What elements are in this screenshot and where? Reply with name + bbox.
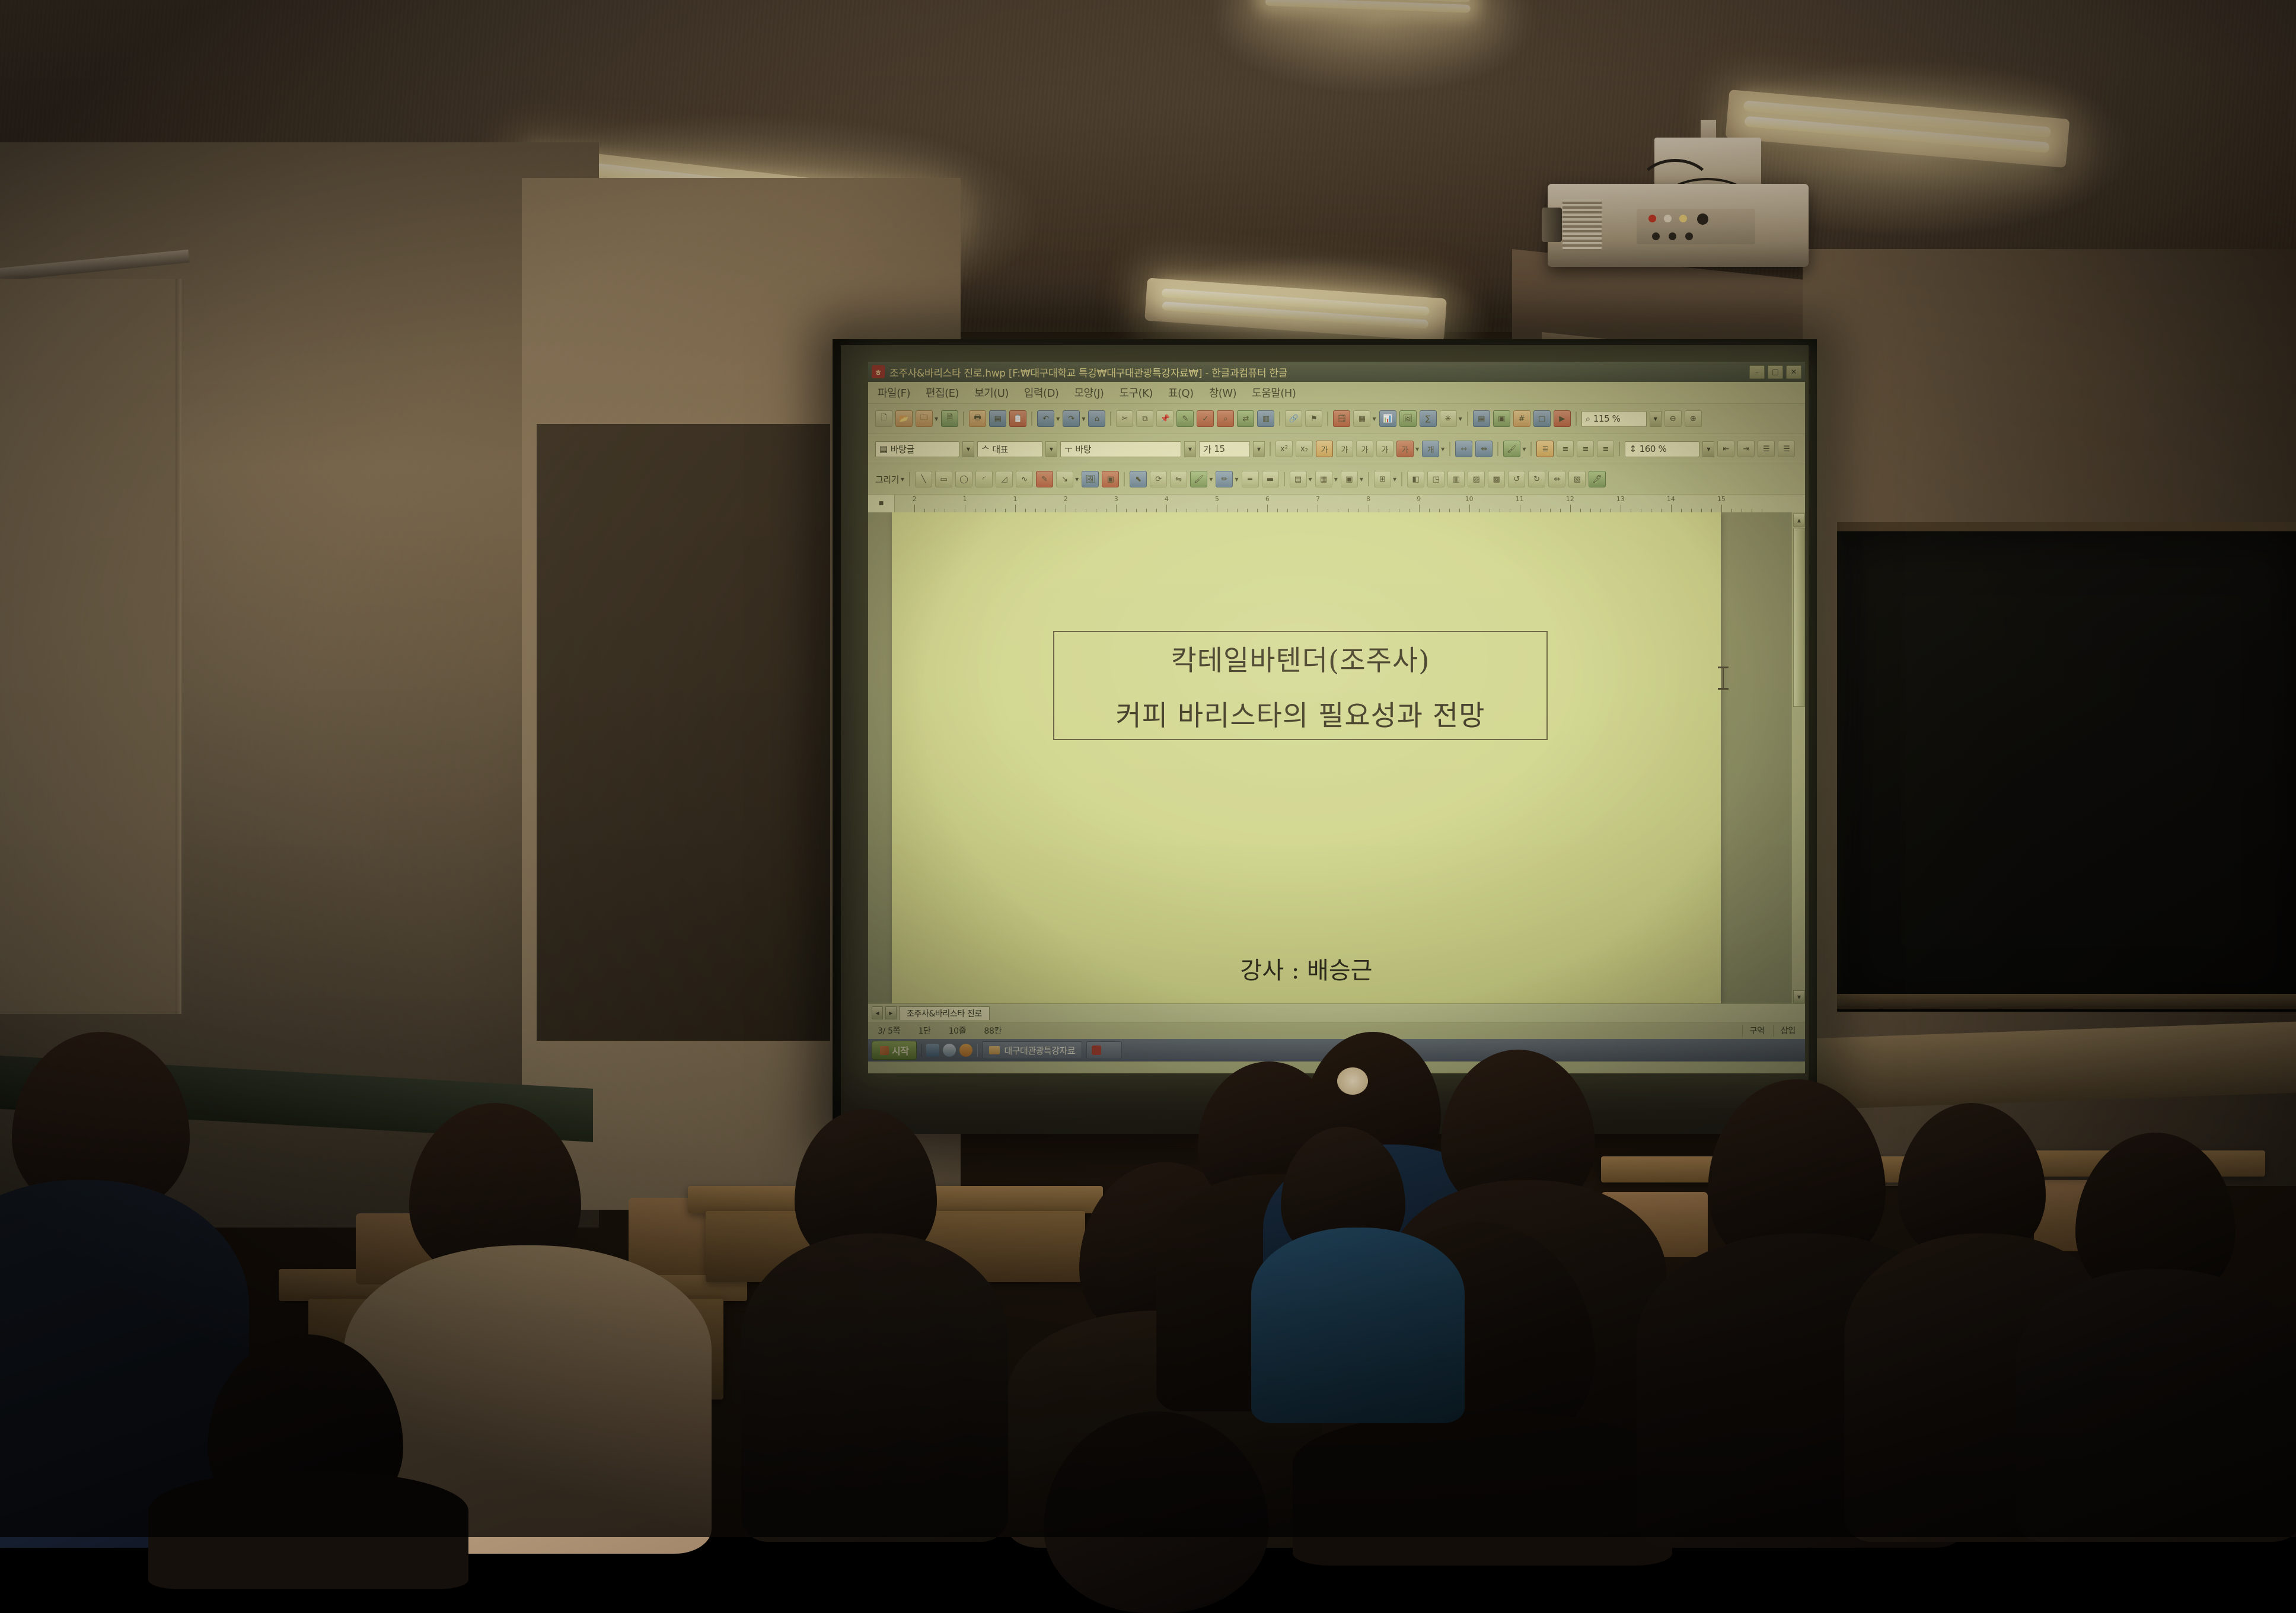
internet-explorer-icon[interactable] <box>943 1044 956 1057</box>
highlight-icon[interactable]: 🖌 <box>1503 441 1520 457</box>
tab-next-button[interactable]: ▶ <box>885 1006 897 1019</box>
chevron-down-icon[interactable]: ▼ <box>1082 416 1085 422</box>
toolbar-separator <box>1327 412 1328 426</box>
hyperlink-icon[interactable]: 🔗 <box>1285 410 1302 427</box>
page-setup-icon[interactable]: ▤ <box>989 410 1006 427</box>
toolbar-separator <box>1449 442 1450 456</box>
ruler-major-tick <box>1621 505 1621 512</box>
chevron-down-icon[interactable]: ▼ <box>1459 416 1462 422</box>
hwp-titlebar[interactable]: ㅎ 조주사&바리스타 진로.hwp [F:₩대구대학교 특강₩대구대관광특강자료… <box>868 362 1805 382</box>
ole-tool[interactable]: ▣ <box>1102 471 1119 487</box>
menu-window[interactable]: 창(W) <box>1209 385 1236 400</box>
line-spacing-value: 160 % <box>1640 444 1667 454</box>
close-button[interactable]: ✕ <box>1786 365 1801 379</box>
menu-table[interactable]: 표(Q) <box>1168 385 1194 400</box>
print-icon[interactable]: 🖶 <box>969 410 986 427</box>
menu-edit[interactable]: 편집(E) <box>926 385 959 400</box>
ruler-tick-label: 8 <box>1366 495 1370 503</box>
ruler-major-tick <box>1520 505 1520 512</box>
undo-icon[interactable]: ↶ <box>1037 410 1054 427</box>
chevron-down-icon[interactable]: ▼ <box>901 477 904 482</box>
folder-icon <box>989 1046 1000 1054</box>
strikethrough-icon[interactable]: 가 <box>1376 441 1393 457</box>
scrollbar-thumb[interactable] <box>1793 528 1805 707</box>
menu-tools[interactable]: 도구(K) <box>1119 385 1152 400</box>
rotate-left-tool[interactable]: ↺ <box>1508 471 1525 487</box>
ruler-tick-label: 2 <box>913 495 917 503</box>
footnote-icon[interactable]: ▣ <box>1493 410 1510 427</box>
align-left-icon[interactable]: ≡ <box>1557 441 1574 457</box>
char-width-icon[interactable]: ⇹ <box>1475 441 1493 457</box>
torso <box>1251 1228 1465 1423</box>
ruler-tick-label: 15 <box>1717 495 1726 503</box>
window-controls[interactable]: – □ ✕ <box>1749 365 1801 379</box>
hwp-app-icon <box>1092 1045 1101 1055</box>
torso <box>148 1471 468 1589</box>
menu-file[interactable]: 파일(F) <box>878 385 910 400</box>
toolbar-separator <box>963 412 964 426</box>
document-page[interactable]: 칵테일바텐더(조주사) 커피 바리스타의 필요성과 전망 강사 : 배승근 <box>892 512 1721 1003</box>
font-size-icon: 가 <box>1203 443 1211 455</box>
torso <box>741 1233 1008 1542</box>
flip-tool[interactable]: ⇋ <box>1170 471 1187 487</box>
menu-format[interactable]: 모양(J) <box>1074 385 1104 400</box>
open-file-icon[interactable]: 📂 <box>895 410 913 427</box>
toolbar-separator <box>1031 412 1032 426</box>
toolbar-separator <box>909 472 910 486</box>
snap-tool[interactable]: ▨ <box>1468 471 1485 487</box>
taskbar-window-label: 대구대관광특강자료 <box>1004 1044 1075 1057</box>
projector-port <box>1679 215 1687 222</box>
zoom-dropdown-arrow[interactable]: ▼ <box>1650 411 1662 427</box>
chevron-down-icon[interactable]: ▼ <box>1075 477 1079 482</box>
toolbar-separator <box>1530 442 1532 456</box>
scroll-up-button[interactable]: ▲ <box>1793 514 1805 527</box>
projector-port <box>1685 232 1693 240</box>
grid-tool[interactable]: ▩ <box>1488 471 1505 487</box>
font-name-dropdown-arrow[interactable]: ▼ <box>1184 441 1196 457</box>
ruler-scale: 21123456789101112131415 <box>894 495 1805 512</box>
find-icon[interactable]: ⌕ <box>1217 410 1234 427</box>
rectangle-tool[interactable]: ▭ <box>935 471 952 487</box>
equation-icon[interactable]: ∑ <box>1420 410 1437 427</box>
draw-toolbar-label: 그리기 <box>875 473 899 486</box>
document-tab[interactable]: 조주사&바리스타 진로 <box>899 1006 990 1020</box>
minimize-button[interactable]: – <box>1749 365 1765 379</box>
ruler-tick-label: 12 <box>1566 495 1574 503</box>
block-icon[interactable]: ▥ <box>1257 410 1274 427</box>
ruler-tick-label: 1 <box>963 495 967 503</box>
chevron-down-icon[interactable]: ▼ <box>1056 416 1060 422</box>
font-size-field[interactable]: 가 15 <box>1199 441 1250 457</box>
start-button[interactable]: 시작 <box>872 1041 917 1060</box>
bullet-list-icon[interactable]: ☰ <box>1758 441 1775 457</box>
indent-increase-icon[interactable]: ⇥ <box>1737 441 1755 457</box>
pencil-tool[interactable]: ✎ <box>1036 471 1053 487</box>
zoom-out-icon[interactable]: ⊖ <box>1664 410 1682 427</box>
horizontal-ruler[interactable]: ■ 21123456789101112131415 <box>868 494 1805 512</box>
projector-vent <box>1562 199 1602 250</box>
char-style-icon: ᄉ <box>981 443 989 455</box>
status-bar: 3/ 5쪽 1단 10줄 88칸 구역 삽입 <box>868 1022 1805 1039</box>
order-tool[interactable]: ▣ <box>1341 471 1358 487</box>
maximize-button[interactable]: □ <box>1768 365 1783 379</box>
line-spacing-icon: ↕ <box>1629 444 1636 454</box>
ruler-tick-label: 2 <box>1064 495 1068 503</box>
toolbar-separator <box>1368 472 1369 486</box>
picture-icon[interactable]: 🖼 <box>1399 410 1417 427</box>
lecture-room: ㅎ 조주사&바리스타 진로.hwp [F:₩대구대학교 특강₩대구대관광특강자료… <box>0 0 2296 1537</box>
print-preview-icon[interactable]: 🗎 <box>941 410 958 427</box>
chevron-down-icon[interactable]: ▼ <box>1334 477 1338 482</box>
ruler-major-tick <box>914 505 915 512</box>
replace-icon[interactable]: ⇄ <box>1237 410 1254 427</box>
blind-edge <box>176 279 181 1014</box>
text-color-icon[interactable]: 개 <box>1422 441 1439 457</box>
special-char-icon[interactable]: ✳ <box>1440 410 1457 427</box>
outline-icon[interactable]: 가 <box>1396 441 1414 457</box>
ruler-tick-label: 13 <box>1616 495 1625 503</box>
underline-icon[interactable]: 가 <box>1356 441 1373 457</box>
pen-icon[interactable]: ✎ <box>1176 410 1194 427</box>
toolbar-separator <box>1110 412 1111 426</box>
toolbar-separator <box>1467 412 1468 426</box>
projector-port <box>1648 215 1656 222</box>
align-justify-icon[interactable]: ≣ <box>1536 441 1554 457</box>
projector-port <box>1669 232 1676 240</box>
chevron-down-icon[interactable]: ▼ <box>1441 447 1444 452</box>
navigate-icon[interactable]: ⌂ <box>1088 410 1105 427</box>
chevron-down-icon[interactable]: ▼ <box>1415 447 1419 452</box>
arrow-tool[interactable]: ↘ <box>1056 471 1073 487</box>
ruler-major-tick <box>1721 505 1722 512</box>
memo-icon[interactable]: 🗒 <box>1333 410 1350 427</box>
zoom-in-icon[interactable]: ⊕ <box>1685 410 1702 427</box>
ruler-major-tick <box>1671 505 1672 512</box>
lecturer-line: 강사 : 배승근 <box>892 951 1721 986</box>
ruler-tick-label: 11 <box>1516 495 1524 503</box>
toolbar-separator <box>1497 442 1498 456</box>
line-color-tool[interactable]: ✏ <box>1216 471 1233 487</box>
mirror-tool[interactable]: ⇹ <box>1548 471 1565 487</box>
chevron-down-icon[interactable]: ▼ <box>1209 477 1213 482</box>
select-tool[interactable]: ⬉ <box>1130 471 1147 487</box>
toolbar-separator <box>1619 442 1620 456</box>
chart-icon[interactable]: 📊 <box>1379 410 1396 427</box>
subscript-icon[interactable]: x₂ <box>1296 441 1313 457</box>
chalk-tray <box>1837 994 2296 1009</box>
projected-desktop[interactable]: ㅎ 조주사&바리스타 진로.hwp [F:₩대구대학교 특강₩대구대관광특강자료… <box>868 362 1805 1073</box>
cut-icon[interactable]: ✂ <box>1116 410 1133 427</box>
header-footer-icon[interactable]: ▤ <box>1473 410 1490 427</box>
eyedropper-tool[interactable]: 🖊 <box>1589 471 1606 487</box>
chevron-down-icon[interactable]: ▼ <box>1309 477 1312 482</box>
standard-toolbar[interactable]: 🗋 📂 🗀 ▼ 🗎 🖶 ▤ 📋 ↶ ▼ ↷ ▼ ⌂ ✂ ⧉ 📌 ✎ ✓ ⌕ ⇄ … <box>868 403 1805 433</box>
indent-decrease-icon[interactable]: ⇤ <box>1717 441 1734 457</box>
torso <box>2016 1269 2296 1542</box>
ruler-major-tick <box>1419 505 1420 512</box>
save-icon[interactable]: 🗀 <box>916 410 933 427</box>
zoom-magnifier-icon: ⌕ <box>1586 413 1590 424</box>
ruler-major-tick <box>1267 505 1268 512</box>
line-style-tool[interactable]: ═ <box>1242 471 1259 487</box>
projector-port <box>1652 232 1660 240</box>
chevron-down-icon[interactable]: ▼ <box>1393 477 1396 482</box>
wall-dark-panel <box>537 424 830 1041</box>
toolbar-separator <box>1284 472 1285 486</box>
window-title: 조주사&바리스타 진로.hwp [F:₩대구대학교 특강₩대구대관광특강자료₩]… <box>889 365 1745 380</box>
new-document-icon[interactable]: 🗋 <box>875 410 892 427</box>
toolbar-separator <box>1401 472 1402 486</box>
quick-launch-bar[interactable] <box>921 1044 978 1057</box>
media-player-icon[interactable] <box>959 1044 972 1057</box>
italic-icon[interactable]: 가 <box>1336 441 1353 457</box>
menu-input[interactable]: 입력(D) <box>1024 385 1059 400</box>
toolbar-separator <box>1124 472 1125 486</box>
ruler-tick-label: 9 <box>1417 495 1421 503</box>
ruler-tick-label: 14 <box>1667 495 1675 503</box>
ruler-major-tick <box>1570 505 1571 512</box>
status-area: 구역 <box>1742 1025 1765 1037</box>
table-icon[interactable]: ▦ <box>1353 410 1370 427</box>
status-insert-mode: 삽입 <box>1773 1025 1796 1037</box>
chalkboard <box>1837 522 2296 1012</box>
char-style-dropdown-arrow[interactable]: ▼ <box>1045 441 1057 457</box>
ruler-major-tick <box>1469 505 1470 512</box>
paste-icon[interactable]: 📌 <box>1156 410 1173 427</box>
hair-clip <box>1337 1067 1368 1095</box>
line-spacing-field[interactable]: ↕ 160 % <box>1625 441 1699 457</box>
roller-blind <box>0 279 178 1014</box>
paragraph-style-dropdown-arrow[interactable]: ▼ <box>962 441 974 457</box>
status-page: 3/ 5쪽 <box>878 1025 900 1037</box>
spellcheck-icon[interactable]: ✓ <box>1197 410 1214 427</box>
ruler-tick-label: 10 <box>1465 495 1474 503</box>
paragraph-style-field[interactable]: ▤ 바탕글 <box>875 441 959 457</box>
redo-icon[interactable]: ↷ <box>1063 410 1080 427</box>
line-width-tool[interactable]: ▬ <box>1262 471 1279 487</box>
slide-title-line-2: 커피 바리스타의 필요성과 전망 <box>1116 693 1485 734</box>
ruler-tick-label: 5 <box>1215 495 1219 503</box>
document-tabbar[interactable]: ◀ ▶ 조주사&바리스타 진로 <box>868 1003 1805 1022</box>
ruler-major-tick <box>1318 505 1318 512</box>
align-shapes-tool[interactable]: ▤ <box>1290 471 1307 487</box>
ruler-tick-label: 4 <box>1165 495 1169 503</box>
chevron-down-icon[interactable]: ▼ <box>1235 477 1238 482</box>
shape-props-tool[interactable]: ▧ <box>1568 471 1586 487</box>
line-spacing-dropdown-arrow[interactable]: ▼ <box>1702 441 1714 457</box>
bold-icon[interactable]: 가 <box>1316 441 1333 457</box>
arc-tool[interactable]: ◜ <box>975 471 993 487</box>
align-right-icon[interactable]: ≡ <box>1597 441 1614 457</box>
group-tool[interactable]: ⊞ <box>1374 471 1391 487</box>
vertical-scrollbar[interactable]: ▲ ▼ <box>1791 512 1805 1003</box>
3d-tool[interactable]: ◳ <box>1427 471 1444 487</box>
bookmark-icon[interactable]: ⚑ <box>1305 410 1322 427</box>
superscript-icon[interactable]: x² <box>1275 441 1293 457</box>
torso <box>1293 1411 1672 1566</box>
char-style-field[interactable]: ᄉ 대표 <box>977 441 1042 457</box>
macro-icon[interactable]: ▶ <box>1554 410 1571 427</box>
zoom-value: 115 % <box>1593 413 1621 424</box>
scroll-down-button[interactable]: ▼ <box>1793 990 1805 1003</box>
chevron-down-icon[interactable]: ▼ <box>1360 477 1363 482</box>
hwp-app-icon: ㅎ <box>872 365 885 378</box>
slide-title-line-1: 칵테일바텐더(조주사) <box>1171 637 1430 678</box>
font-size-value: 15 <box>1214 444 1224 454</box>
rotate-tool[interactable]: ⟳ <box>1150 471 1167 487</box>
show-desktop-icon[interactable] <box>926 1044 939 1057</box>
toolbar-separator <box>1279 412 1280 426</box>
ruler-corner-button[interactable]: ■ <box>868 495 895 512</box>
ruler-major-tick <box>1015 505 1016 512</box>
menu-help[interactable]: 도움말(H) <box>1252 385 1296 400</box>
ruler-major-tick <box>1116 505 1117 512</box>
projector-lens <box>1542 208 1562 242</box>
ruler-tick-label: 1 <box>1013 495 1018 503</box>
windows-flag-icon <box>880 1046 889 1055</box>
text-cursor-serif <box>1718 688 1729 690</box>
hwp-menubar[interactable]: 파일(F) 편집(E) 보기(U) 입력(D) 모양(J) 도구(K) 표(Q)… <box>868 382 1805 403</box>
layer-tool[interactable]: ▥ <box>1447 471 1465 487</box>
menu-view[interactable]: 보기(U) <box>974 385 1009 400</box>
fill-color-tool[interactable]: 🖌 <box>1190 471 1207 487</box>
rotate-right-tool[interactable]: ↻ <box>1528 471 1545 487</box>
start-label: 시작 <box>892 1043 908 1057</box>
distribute-tool[interactable]: ▦ <box>1315 471 1332 487</box>
tab-prev-button[interactable]: ◀ <box>872 1006 883 1019</box>
char-spacing-icon[interactable]: ⇿ <box>1455 441 1472 457</box>
align-center-icon[interactable]: ≡ <box>1577 441 1594 457</box>
ruler-tick-label: 6 <box>1265 495 1270 503</box>
status-column: 1단 <box>918 1025 930 1037</box>
number-list-icon[interactable]: ☰ <box>1778 441 1795 457</box>
toolbar-separator <box>1576 412 1577 426</box>
font-name-field[interactable]: ㅜ 바탕 <box>1060 441 1181 457</box>
ruler-tick-label: 3 <box>1114 495 1118 503</box>
ruler-major-tick <box>1369 505 1369 512</box>
chevron-down-icon[interactable]: ▼ <box>1372 416 1376 422</box>
chevron-down-icon[interactable]: ▼ <box>935 416 938 422</box>
style-icon: ▤ <box>879 444 888 454</box>
char-style-value: 대표 <box>992 443 1008 455</box>
text-cursor-serif <box>1718 667 1729 668</box>
ruler-major-tick <box>965 505 965 512</box>
toolbar-separator <box>1270 442 1271 456</box>
ruler-major-tick <box>1066 505 1066 512</box>
frame-icon[interactable]: ▢ <box>1533 410 1551 427</box>
taskbar-window-hwp[interactable] <box>1086 1041 1122 1059</box>
status-line: 10줄 <box>949 1025 967 1037</box>
page-number-icon[interactable]: # <box>1513 410 1530 427</box>
format-toolbar[interactable]: ▤ 바탕글 ▼ ᄉ 대표 ▼ ㅜ 바탕 ▼ 가 15 ▼ x² x₂ 가 가 <box>868 433 1805 464</box>
document-area[interactable]: 칵테일바텐더(조주사) 커피 바리스타의 필요성과 전망 강사 : 배승근 ▲ … <box>868 512 1805 1003</box>
shadow-tool[interactable]: ◧ <box>1407 471 1424 487</box>
ruler-tick-label: 7 <box>1316 495 1320 503</box>
status-right-group: 구역 삽입 <box>1742 1025 1796 1037</box>
copy-icon[interactable]: ⧉ <box>1136 410 1153 427</box>
curve-tool[interactable]: ∿ <box>1016 471 1033 487</box>
picture-tool[interactable]: 🖼 <box>1082 471 1099 487</box>
draw-toolbar[interactable]: 그리기 ▼ ╲ ▭ ◯ ◜ ◿ ∿ ✎ ↘ ▼ 🖼 ▣ ⬉ ⟳ ⇋ 🖌 ▼ ✏ … <box>868 464 1805 494</box>
polygon-tool[interactable]: ◿ <box>996 471 1013 487</box>
zoom-field[interactable]: ⌕ 115 % <box>1581 411 1647 427</box>
font-icon: ㅜ <box>1064 443 1072 455</box>
ellipse-tool[interactable]: ◯ <box>955 471 972 487</box>
font-name-value: 바탕 <box>1075 443 1091 455</box>
status-char: 88칸 <box>984 1025 1002 1037</box>
paragraph-style-value: 바탕글 <box>891 443 914 455</box>
clipboard-icon[interactable]: 📋 <box>1009 410 1026 427</box>
taskbar-window-folder[interactable]: 대구대관광특강자료 <box>982 1041 1082 1059</box>
slide-title-box: 칵테일바텐더(조주사) 커피 바리스타의 필요성과 전망 <box>1053 631 1548 740</box>
chevron-down-icon[interactable]: ▼ <box>1522 447 1526 452</box>
ruler-major-tick <box>1217 505 1217 512</box>
ruler-major-tick <box>1166 505 1167 512</box>
line-tool[interactable]: ╲ <box>915 471 932 487</box>
font-size-dropdown-arrow[interactable]: ▼ <box>1253 441 1265 457</box>
projector-port <box>1697 213 1708 225</box>
text-cursor <box>1723 668 1724 689</box>
projector-port <box>1664 215 1672 222</box>
